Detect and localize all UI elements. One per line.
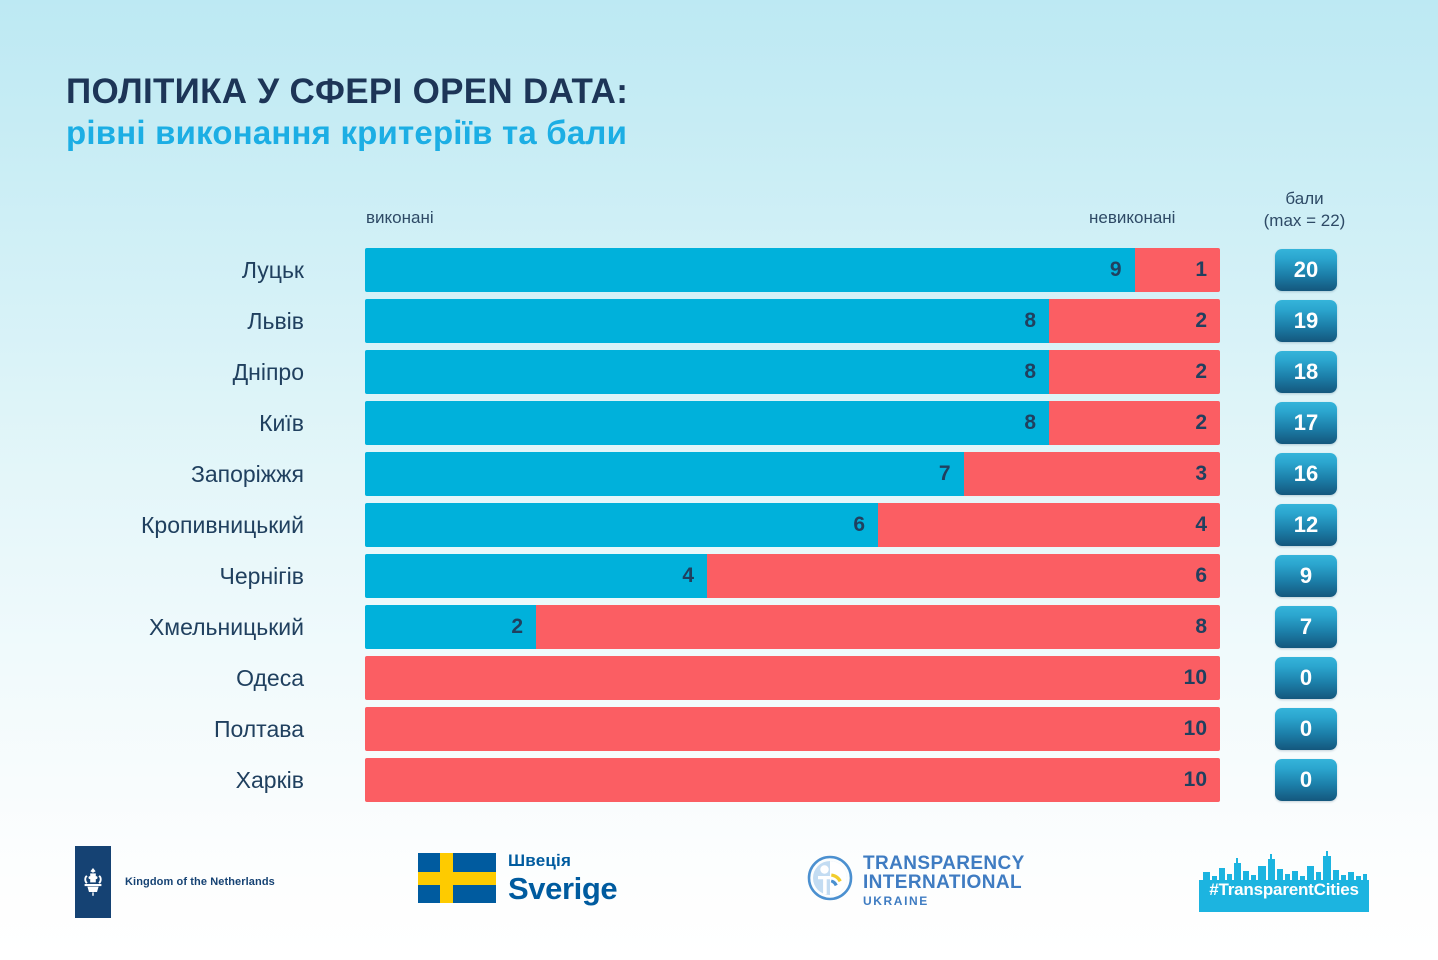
logo-ti-label-line-3: UKRAINE [863, 895, 1025, 907]
netherlands-coat-of-arms-icon [75, 846, 111, 918]
chart-row: Львів8219 [0, 299, 1438, 343]
chart-row: Одеса100 [0, 656, 1438, 700]
chart-row: Полтава100 [0, 707, 1438, 751]
chart-column-headers: виконані невиконані бали (max = 22) [0, 0, 1438, 250]
chart-row-bar: 82 [365, 350, 1220, 394]
score-badge: 16 [1275, 453, 1337, 495]
chart-row: Луцьк9120 [0, 248, 1438, 292]
bar-segment-done: 7 [365, 452, 964, 496]
score-column-header-line-1: бали [1243, 188, 1366, 210]
bar-segment-not-done: 10 [365, 656, 1220, 700]
sweden-flag-icon [418, 853, 496, 903]
bar-segment-not-done: 6 [707, 554, 1220, 598]
chart-row-city-label: Запоріжжя [0, 452, 330, 496]
logo-sweden-label-sv: Sverige [508, 873, 617, 904]
bar-segment-not-done: 4 [878, 503, 1220, 547]
transparency-international-emblem-icon [807, 855, 853, 906]
score-badge: 0 [1275, 708, 1337, 750]
chart-row-city-label: Полтава [0, 707, 330, 751]
logo-ti-label-line-2: INTERNATIONAL [863, 873, 1025, 892]
score-column-header: бали (max = 22) [1243, 188, 1366, 233]
chart-row: Харків100 [0, 758, 1438, 802]
bar-segment-not-done: 3 [964, 452, 1221, 496]
chart-row-city-label: Одеса [0, 656, 330, 700]
bar-segment-not-done: 2 [1049, 350, 1220, 394]
chart-row: Чернігів469 [0, 554, 1438, 598]
score-badge: 0 [1275, 657, 1337, 699]
chart-row-city-label: Дніпро [0, 350, 330, 394]
chart-row: Київ8217 [0, 401, 1438, 445]
bar-segment-done: 8 [365, 350, 1049, 394]
bar-segment-done: 8 [365, 401, 1049, 445]
chart-row-bar: 10 [365, 758, 1220, 802]
chart-row: Кропивницький6412 [0, 503, 1438, 547]
bar-segment-not-done: 10 [365, 707, 1220, 751]
score-badge: 18 [1275, 351, 1337, 393]
footer-logo-bar: Kingdom of the Netherlands Швеція Sverig… [0, 832, 1438, 960]
bar-segment-done: 8 [365, 299, 1049, 343]
chart-row-bar: 28 [365, 605, 1220, 649]
chart-row-city-label: Луцьк [0, 248, 330, 292]
bar-segment-done: 4 [365, 554, 707, 598]
chart-row-city-label: Хмельницький [0, 605, 330, 649]
chart-row-city-label: Харків [0, 758, 330, 802]
score-badge: 19 [1275, 300, 1337, 342]
score-badge: 7 [1275, 606, 1337, 648]
bar-segment-done: 9 [365, 248, 1135, 292]
chart-row-bar: 73 [365, 452, 1220, 496]
chart-row-bar: 64 [365, 503, 1220, 547]
bar-segment-done: 6 [365, 503, 878, 547]
score-badge: 9 [1275, 555, 1337, 597]
chart-row: Запоріжжя7316 [0, 452, 1438, 496]
bar-segment-done: 2 [365, 605, 536, 649]
chart-row-bar: 10 [365, 707, 1220, 751]
score-badge: 20 [1275, 249, 1337, 291]
bar-segment-not-done: 2 [1049, 401, 1220, 445]
chart-row-bar: 82 [365, 401, 1220, 445]
legend-label-not-done: невиконані [1089, 208, 1175, 228]
logo-transparent-cities-label: #TransparentCities [1199, 880, 1369, 900]
logo-transparent-cities: #TransparentCities [1199, 850, 1369, 912]
logo-sweden-label-uk: Швеція [508, 852, 617, 869]
logo-transparency-international-ukraine: TRANSPARENCY INTERNATIONAL UKRAINE [807, 854, 1025, 907]
logo-netherlands-label: Kingdom of the Netherlands [125, 876, 275, 888]
legend-label-done: виконані [366, 208, 434, 228]
stacked-bar-chart: Луцьк9120Львів8219Дніпро8218Київ8217Запо… [0, 248, 1438, 809]
bar-segment-not-done: 1 [1135, 248, 1221, 292]
score-badge: 12 [1275, 504, 1337, 546]
chart-row-city-label: Львів [0, 299, 330, 343]
chart-row: Дніпро8218 [0, 350, 1438, 394]
score-badge: 0 [1275, 759, 1337, 801]
logo-sweden: Швеція Sverige [418, 852, 617, 904]
chart-row-city-label: Київ [0, 401, 330, 445]
chart-row-bar: 46 [365, 554, 1220, 598]
chart-row-city-label: Чернігів [0, 554, 330, 598]
logo-ti-label-line-1: TRANSPARENCY [863, 854, 1025, 873]
chart-row-bar: 10 [365, 656, 1220, 700]
bar-segment-not-done: 8 [536, 605, 1220, 649]
chart-row-bar: 82 [365, 299, 1220, 343]
chart-row-bar: 91 [365, 248, 1220, 292]
bar-segment-not-done: 10 [365, 758, 1220, 802]
chart-row: Хмельницький287 [0, 605, 1438, 649]
score-badge: 17 [1275, 402, 1337, 444]
chart-row-city-label: Кропивницький [0, 503, 330, 547]
logo-kingdom-of-the-netherlands: Kingdom of the Netherlands [75, 846, 275, 918]
score-column-header-line-2: (max = 22) [1243, 210, 1366, 232]
bar-segment-not-done: 2 [1049, 299, 1220, 343]
